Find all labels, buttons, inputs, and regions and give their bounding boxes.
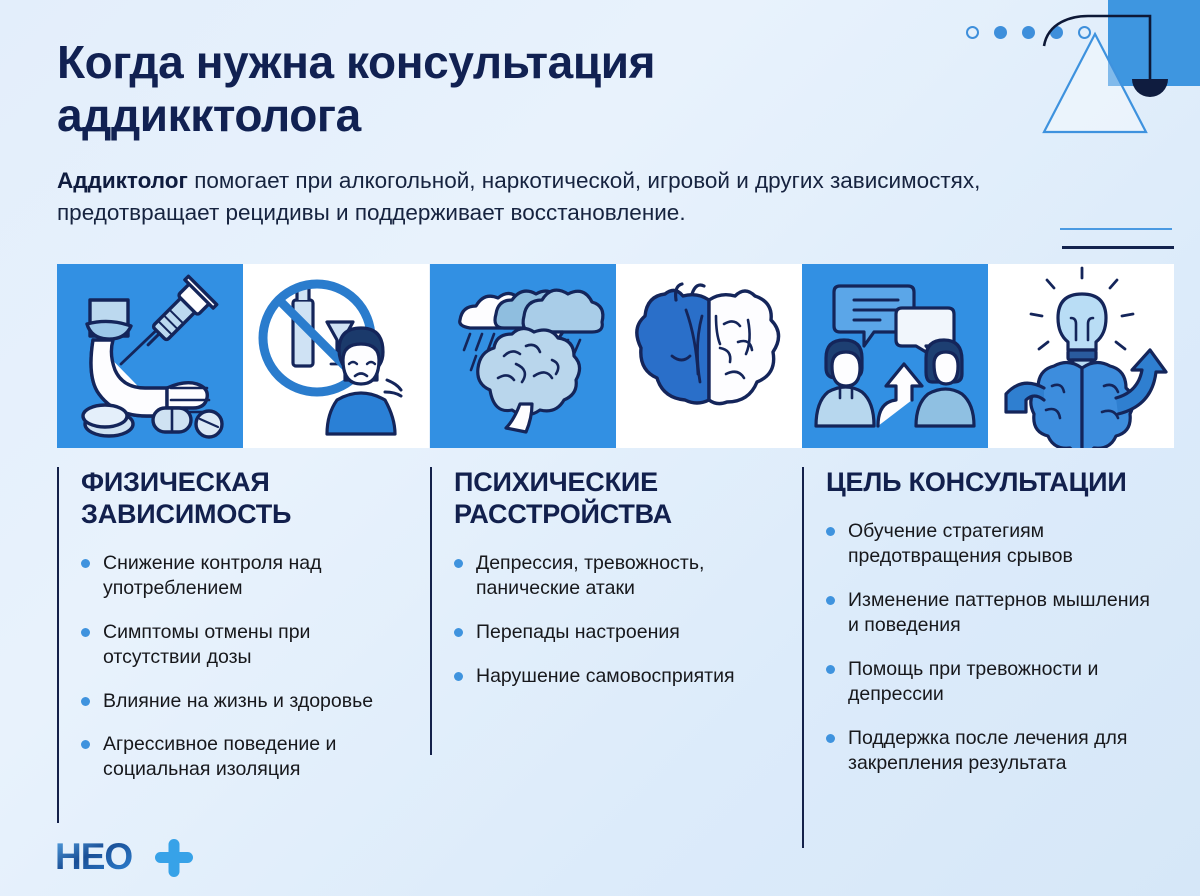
column-bullet-list: Обучение стратегиям предотвращения срыво… — [826, 519, 1162, 776]
list-item: Помощь при тревожности и депрессии — [826, 657, 1162, 707]
decor-dot-2 — [994, 26, 1007, 39]
list-item: Влияние на жизнь и здоровье — [81, 689, 407, 714]
list-item: Нарушение самовосприятия — [454, 664, 780, 689]
lightbulb-brain-arrows-icon — [988, 264, 1174, 448]
tile-group-physical — [57, 264, 429, 448]
people-speech-bubbles-icon — [802, 264, 988, 448]
list-item: Снижение контроля над употреблением — [81, 551, 407, 601]
heart-brain-icon — [616, 264, 802, 448]
tile-group-goal — [802, 264, 1174, 448]
column-heading: ПСИХИЧЕСКИЕ РАССТРОЙСТВА — [454, 467, 780, 531]
subtitle-bold-term: Аддиктолог — [57, 168, 188, 193]
illustration-tiles — [0, 264, 1200, 448]
column-divider-1 — [57, 467, 59, 823]
column-heading: ФИЗИЧЕСКАЯ ЗАВИСИМОСТЬ — [81, 467, 407, 531]
list-item: Обучение стратегиям предотвращения срыво… — [826, 519, 1162, 569]
column-consultation-goal: ЦЕЛЬ КОНСУЛЬТАЦИИ Обучение стратегиям пр… — [802, 467, 1162, 794]
list-item: Перепады настроения — [454, 620, 780, 645]
list-item: Изменение паттернов мышления и поведения — [826, 588, 1162, 638]
column-bullet-list: Депрессия, тревожность, панические атаки… — [454, 551, 780, 689]
subtitle-rest: помогает при алкогольной, наркотической,… — [57, 168, 980, 225]
no-alcohol-sad-person-icon — [243, 264, 429, 448]
decor-dot-1 — [966, 26, 979, 39]
tile-group-mental — [430, 264, 802, 448]
decor-rule-blue — [1060, 228, 1172, 230]
storm-cloud-brain-icon — [430, 264, 616, 448]
list-item: Депрессия, тревожность, панические атаки — [454, 551, 780, 601]
column-mental-disorders: ПСИХИЧЕСКИЕ РАССТРОЙСТВА Депрессия, трев… — [430, 467, 780, 708]
decor-hook-shape-icon — [1020, 0, 1200, 160]
column-divider-2 — [430, 467, 432, 755]
column-bullet-list: Снижение контроля над употреблением Симп… — [81, 551, 407, 783]
page-subtitle: Аддиктолог помогает при алкогольной, нар… — [57, 165, 1117, 229]
arm-syringe-pills-icon — [57, 264, 243, 448]
list-item: Поддержка после лечения для закрепления … — [826, 726, 1162, 776]
decor-rule-navy — [1062, 246, 1174, 249]
brand-logo-text: НЕО — [55, 836, 132, 877]
list-item: Симптомы отмены при отсутствии дозы — [81, 620, 407, 670]
column-divider-3 — [802, 467, 804, 848]
brand-logo: НЕО — [55, 836, 205, 878]
list-item: Агрессивное поведение и социальная изоля… — [81, 732, 407, 782]
page-title: Когда нужна консультация аддикктолога — [57, 36, 877, 143]
column-physical-dependence: ФИЗИЧЕСКАЯ ЗАВИСИМОСТЬ Снижение контроля… — [57, 467, 407, 801]
column-heading: ЦЕЛЬ КОНСУЛЬТАЦИИ — [826, 467, 1162, 499]
